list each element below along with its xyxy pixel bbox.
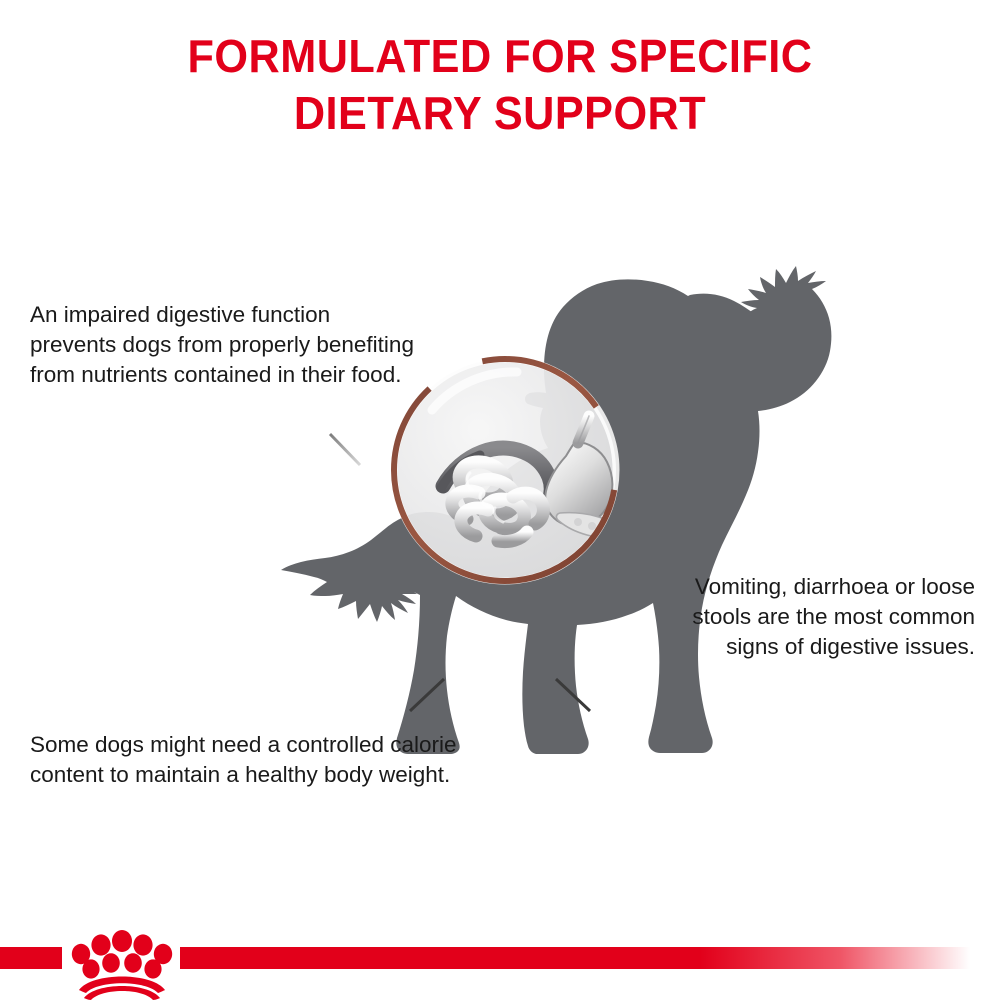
callout-text-digestive-signs: Vomiting, diarrhoea or loose stools are …	[660, 572, 975, 662]
callout-text-calorie-control: Some dogs might need a controlled calori…	[30, 730, 500, 790]
callout-text-impaired-digestion: An impaired digestive function prevents …	[30, 300, 420, 390]
royal-canin-crown-icon	[62, 920, 182, 1000]
infographic-page: FORMULATED FOR SPECIFIC DIETARY SUPPORT	[0, 0, 1000, 1000]
dog-anatomy-illustration	[0, 0, 1000, 1000]
footer	[0, 920, 1000, 1000]
